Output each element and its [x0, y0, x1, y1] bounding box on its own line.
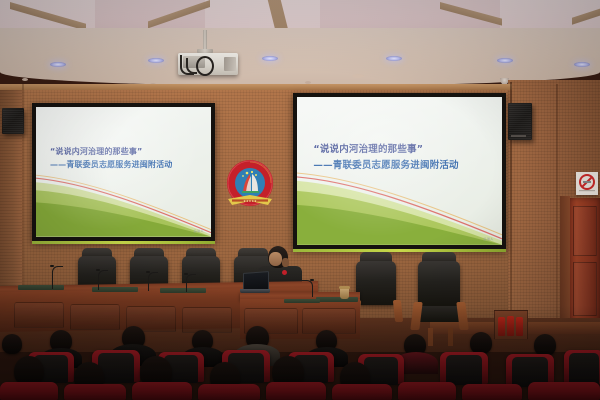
ceiling-soffit	[0, 28, 600, 86]
projector-cable-loop	[196, 56, 214, 76]
wall-trim	[0, 84, 512, 90]
ceiling-fitting	[22, 78, 28, 81]
fire-extinguisher-cabinet	[494, 310, 528, 340]
svg-text:★★★★★: ★★★★★	[243, 199, 257, 203]
audience-seat[interactable]	[64, 384, 126, 400]
left-projection-screen[interactable]: “说说内河治理的那些事” ——青联委员志愿服务进闽附活动 演讲人	[32, 103, 215, 241]
desk-mat	[316, 297, 358, 302]
wall-corner-seam	[556, 84, 558, 346]
audience-seat[interactable]	[398, 382, 456, 400]
desk-mat	[160, 288, 206, 293]
auditorium-photo: “说说内河治理的那些事” ——青联委员志愿服务进闽附活动 演讲人 “说说内河治理…	[0, 0, 600, 400]
lapel-pin	[282, 270, 287, 275]
screen-bottom-trim	[32, 241, 215, 244]
table-panel	[14, 302, 64, 328]
slide-title: “说说内河治理的那些事” ——青联委员志愿服务进闽附活动	[50, 146, 172, 170]
audience-seat[interactable]	[564, 350, 600, 384]
table-microphone	[98, 270, 108, 290]
chair-leg	[428, 328, 433, 346]
audience-person	[2, 334, 22, 354]
table-microphone	[52, 266, 63, 289]
table-microphone	[186, 274, 196, 292]
wall-speaker-right	[508, 103, 532, 140]
screen-bottom-trim	[293, 249, 506, 252]
school-crest-emblem: ★★★★★	[222, 157, 278, 215]
tea-cup	[340, 288, 349, 299]
wall-speaker-left	[2, 108, 24, 134]
audience-seat[interactable]	[0, 382, 58, 400]
ceiling-light	[386, 56, 402, 61]
audience-seat[interactable]	[528, 382, 600, 400]
table-panel	[182, 307, 232, 333]
audience-seat[interactable]	[332, 384, 392, 400]
no-smoking-sign	[576, 172, 598, 195]
slide-title-line2: ——青联委员志愿服务进闽附活动	[313, 157, 458, 171]
audience-seat[interactable]	[462, 384, 522, 400]
ceiling-light	[148, 58, 164, 63]
slide-title: “说说内河治理的那些事” ——青联委员志愿服务进闽附活动	[313, 141, 458, 171]
ceiling-light	[497, 58, 513, 63]
audience-person	[470, 332, 492, 354]
ceiling-light	[262, 56, 278, 61]
ceiling-panel	[205, 0, 320, 30]
audience-seat[interactable]	[198, 384, 260, 400]
ceiling-light	[50, 62, 66, 67]
slide-title-line2: ——青联委员志愿服务进闽附活动	[50, 159, 172, 170]
door-frame	[560, 196, 570, 328]
slide-credit: 演讲人	[483, 237, 494, 241]
ceiling-light	[574, 62, 590, 67]
side-door[interactable]	[569, 198, 600, 326]
ceiling-fitting	[352, 74, 364, 78]
desk-mat	[284, 299, 320, 303]
slide-credit: 演讲人	[193, 229, 204, 233]
chair-leg	[448, 328, 453, 346]
table-microphone	[148, 272, 158, 291]
table-panel	[70, 304, 120, 330]
audience-seat[interactable]	[266, 382, 326, 400]
audience-seat[interactable]	[440, 352, 488, 384]
slide-title-line1: “说说内河治理的那些事”	[313, 141, 458, 155]
slide-title-line1: “说说内河治理的那些事”	[50, 146, 172, 157]
audience-person	[534, 334, 556, 356]
tea-cup-lid	[339, 286, 350, 289]
laptop-base	[240, 289, 270, 293]
audience-seat[interactable]	[132, 382, 192, 400]
table-microphone	[302, 280, 313, 297]
right-projection-screen[interactable]: “说说内河治理的那些事” ——青联委员志愿服务进闽附活动 演讲人	[293, 93, 506, 249]
